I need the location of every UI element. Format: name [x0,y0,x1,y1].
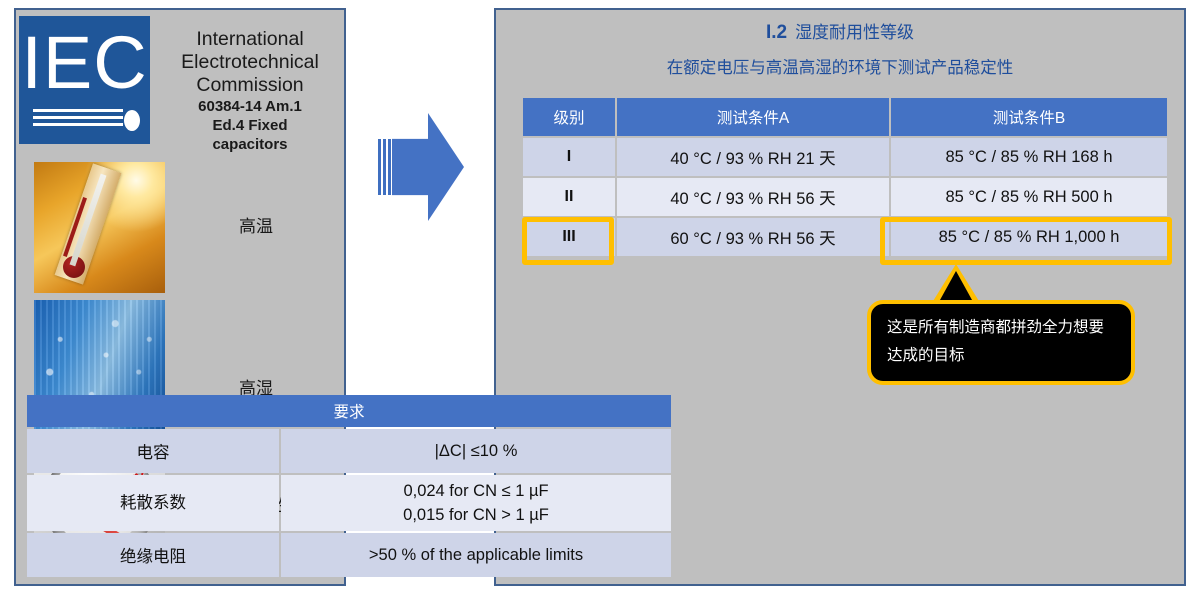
iec-logo-lines-icon [33,109,123,133]
cell-condition-a: 60 °C / 93 % RH 56 天 [617,218,889,256]
callout-bubble: 这是所有制造商都拼劲全力想要 达成的目标 [867,300,1135,385]
standard-line-2: Ed.4 Fixed [156,117,344,135]
cell-requirement-value: 0,024 for CN ≤ 1 µF 0,015 for CN > 1 µF [281,475,671,531]
cell-requirement-value: |ΔC| ≤10 % [281,429,671,473]
right-arrow-icon [378,113,464,221]
standard-line-1: 60384-14 Am.1 [156,98,344,116]
arrow-tail-stripes-icon [378,139,390,195]
cell-condition-b: 85 °C / 85 % RH 500 h [891,178,1167,216]
cell-level: I [523,138,615,176]
humidity-class-table: 级别 测试条件A 测试条件B I 40 °C / 93 % RH 21 天 85… [521,96,1169,258]
value-line-1: 0,024 for CN ≤ 1 µF [281,479,671,503]
cell-requirement-name: 耗散系数 [27,475,279,531]
iec-logo-dot-icon [124,110,140,131]
table-row: 耗散系数 0,024 for CN ≤ 1 µF 0,015 for CN > … [27,475,671,531]
standard-line-3: capacitors [156,136,344,154]
table-row: III 60 °C / 93 % RH 56 天 85 °C / 85 % RH… [523,218,1167,256]
cell-level: II [523,178,615,216]
cell-condition-a: 40 °C / 93 % RH 21 天 [617,138,889,176]
org-line-1: International [156,28,344,51]
thermometer-hot-sun-image [34,162,165,293]
org-line-2: Electrotechnical [156,51,344,74]
section-title: 湿度耐用性等级 [795,23,914,42]
class-table-header-row: 级别 测试条件A 测试条件B [523,98,1167,136]
column-header-test-condition-b: 测试条件B [891,98,1167,136]
value-line-2: 0,015 for CN > 1 µF [281,503,671,527]
cell-condition-b: 85 °C / 85 % RH 1,000 h [891,218,1167,256]
cell-level: III [523,218,615,256]
cell-requirement-name: 绝缘电阻 [27,533,279,577]
callout-line-2: 达成的目标 [887,342,1115,370]
requirements-table: 要求 电容 |ΔC| ≤10 % 耗散系数 0,024 for CN ≤ 1 µ… [25,393,673,579]
section-subtitle: 在额定电压与高温高湿的环境下测试产品稳定性 [496,54,1184,78]
table-row: 电容 |ΔC| ≤10 % [27,429,671,473]
iec-logo: IEC [19,16,150,144]
section-number: I.2 [766,22,787,43]
cell-requirement-name: 电容 [27,429,279,473]
column-header-level: 级别 [523,98,615,136]
iec-logo-row: IEC International Electrotechnical Commi… [16,10,344,158]
feature-row-high-temperature: 高温 [16,162,344,298]
iec-logo-letters: IEC [19,20,150,106]
arrow-body [392,113,464,221]
requirements-header-row: 要求 [27,395,671,427]
cell-condition-b: 85 °C / 85 % RH 168 h [891,138,1167,176]
feature-label-high-temperature: 高温 [168,162,344,293]
table-row: II 40 °C / 93 % RH 56 天 85 °C / 85 % RH … [523,178,1167,216]
cell-requirement-value: >50 % of the applicable limits [281,533,671,577]
section-heading: I.2湿度耐用性等级 [496,18,1184,44]
column-header-test-condition-a: 测试条件A [617,98,889,136]
org-line-3: Commission [156,74,344,97]
table-row: I 40 °C / 93 % RH 21 天 85 °C / 85 % RH 1… [523,138,1167,176]
cell-condition-a: 40 °C / 93 % RH 56 天 [617,178,889,216]
callout-line-1: 这是所有制造商都拼劲全力想要 [887,314,1115,342]
table-row: 绝缘电阻 >50 % of the applicable limits [27,533,671,577]
iec-organization-text: International Electrotechnical Commissio… [156,28,344,154]
column-header-requirements: 要求 [27,395,671,427]
